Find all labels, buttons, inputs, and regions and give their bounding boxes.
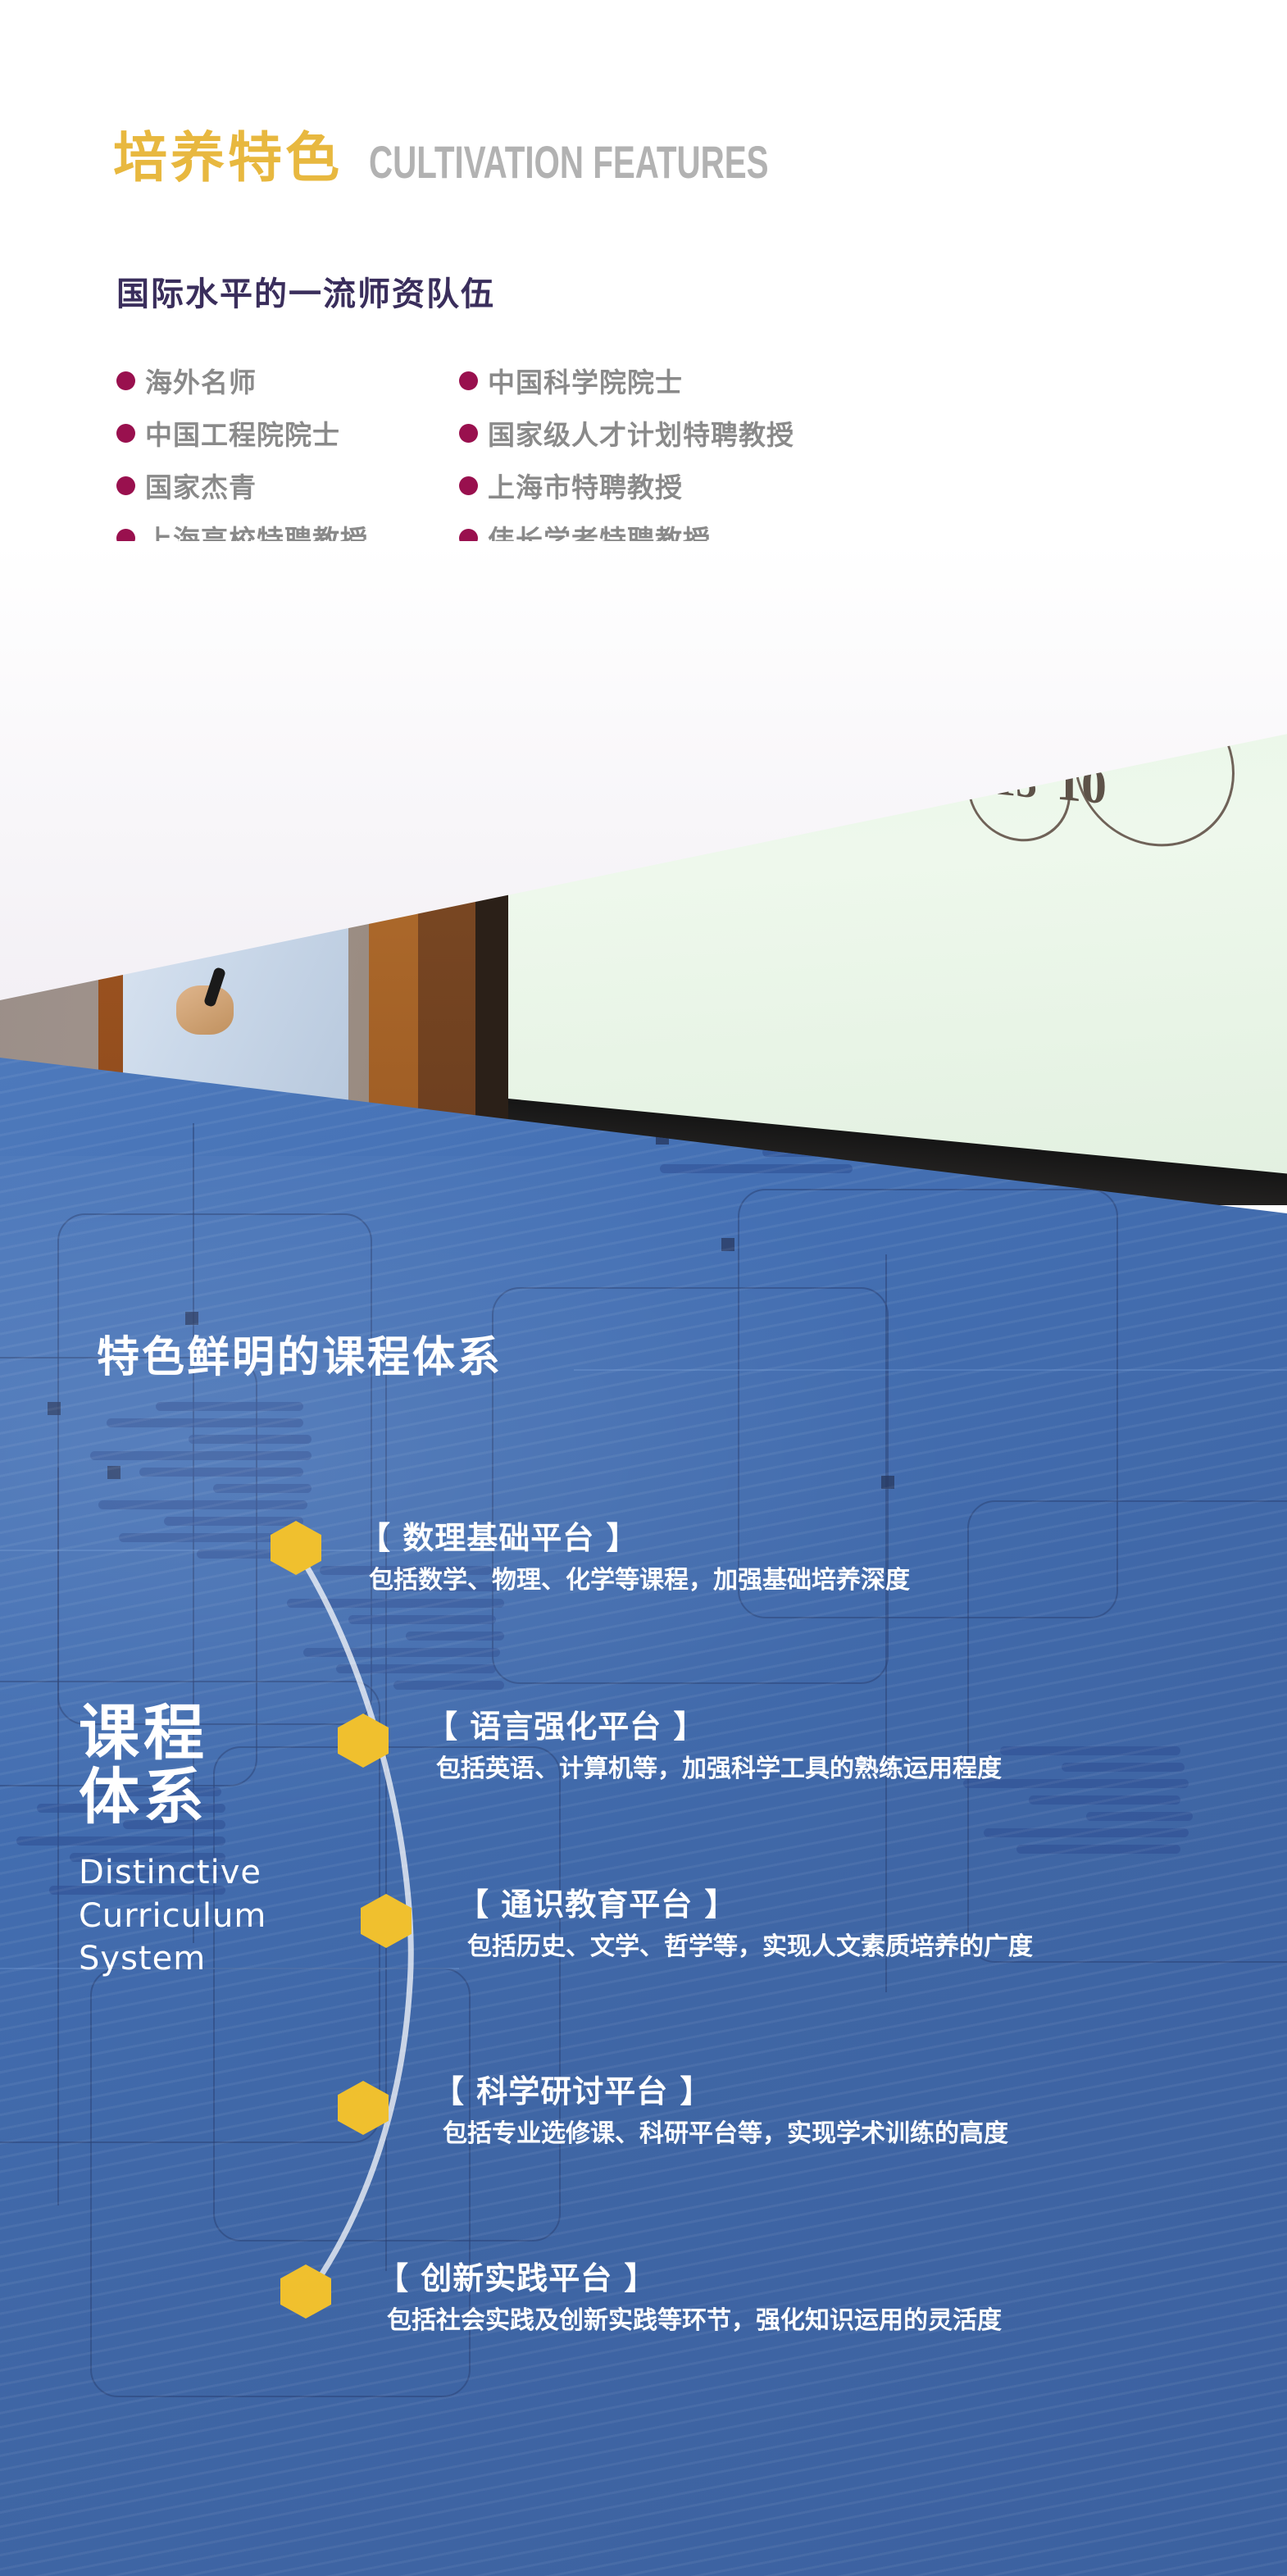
decor-square-dot	[721, 1238, 734, 1251]
platform-desc: 包括历史、文学、哲学等，实现人文素质培养的广度	[467, 1931, 1220, 1964]
platform-desc: 包括英语、计算机等，加强科学工具的熟练运用程度	[436, 1753, 1205, 1786]
list-item-label: 中国科学院院士	[488, 361, 683, 400]
decor-square-dot	[881, 1476, 894, 1489]
side-label-en-line1: Distinctive	[79, 1851, 325, 1895]
platform-title: 【 科学研讨平台 】	[433, 2066, 1212, 2111]
list-item: 国家级人才计划特聘教授	[459, 413, 794, 453]
side-label-en-line3: System	[79, 1937, 325, 1981]
platform-desc: 包括专业选修课、科研平台等，实现学术训练的高度	[443, 2118, 1212, 2151]
list-item-label: 国家级人才计划特聘教授	[488, 413, 794, 453]
side-label-cn-line2: 体系	[79, 1765, 325, 1829]
list-item: 中国科学院院士	[459, 361, 794, 400]
bullet-dot-icon	[459, 424, 478, 443]
list-item: 中国工程院院士	[116, 413, 459, 453]
platform-4-text: 【 科学研讨平台 】 包括专业选修课、科研平台等，实现学术训练的高度	[433, 2066, 1212, 2151]
page-title-en: CULTIVATION FEATURES	[369, 139, 769, 185]
curriculum-heading: 特色鲜明的课程体系	[97, 1322, 503, 1384]
list-item-label: 海外名师	[145, 361, 257, 400]
side-label-en-line2: Curriculum	[79, 1895, 325, 1938]
side-label-cn: 课程 体系	[79, 1701, 325, 1830]
page-title: 培养特色 CULTIVATION FEATURES	[113, 131, 924, 185]
list-item: 海外名师	[116, 361, 459, 400]
platform-desc: 包括社会实践及创新实践等环节，强化知识运用的灵活度	[387, 2305, 1205, 2338]
curriculum-side-label: 课程 体系 Distinctive Curriculum System	[79, 1701, 325, 1981]
list-item: 上海市特聘教授	[459, 466, 794, 505]
platform-5-text: 【 创新实践平台 】 包括社会实践及创新实践等环节，强化知识运用的灵活度	[377, 2253, 1205, 2338]
decor-hline	[574, 1369, 1287, 1371]
list-item: 国家杰青	[116, 466, 459, 505]
list-item-label: 上海市特聘教授	[488, 466, 683, 505]
bullet-dot-icon	[459, 371, 478, 390]
list-item-label: 中国工程院院士	[145, 413, 340, 453]
platform-1-text: 【 数理基础平台 】 包括数学、物理、化学等课程，加强基础培养深度	[359, 1513, 1179, 1598]
platform-3-text: 【 通识教育平台 】 包括历史、文学、哲学等，实现人文素质培养的广度	[457, 1879, 1220, 1964]
decor-square-dot	[48, 1402, 61, 1415]
side-label-en: Distinctive Curriculum System	[79, 1851, 325, 1981]
bullet-dot-icon	[116, 371, 135, 390]
faculty-section-heading: 国际水平的一流师资队伍	[116, 267, 495, 315]
platform-title: 【 创新实践平台 】	[377, 2253, 1205, 2298]
bullet-dot-icon	[116, 476, 135, 495]
platform-title: 【 通识教育平台 】	[457, 1879, 1220, 1924]
bullet-dot-icon	[459, 476, 478, 495]
platform-desc: 包括数学、物理、化学等课程，加强基础培养深度	[369, 1564, 1179, 1598]
faculty-list: 海外名师 中国科学院院士 中国工程院院士 国家级人才计划特聘教授 国家杰青 上海…	[116, 361, 794, 558]
bullet-dot-icon	[116, 424, 135, 443]
platform-title: 【 语言强化平台 】	[426, 1701, 1205, 1746]
side-label-cn-line1: 课程	[79, 1701, 325, 1765]
platform-title: 【 数理基础平台 】	[359, 1513, 1179, 1558]
page-title-cn: 培养特色	[113, 131, 343, 185]
list-item-label: 国家杰青	[145, 466, 257, 505]
platform-2-text: 【 语言强化平台 】 包括英语、计算机等，加强科学工具的熟练运用程度	[426, 1701, 1205, 1786]
